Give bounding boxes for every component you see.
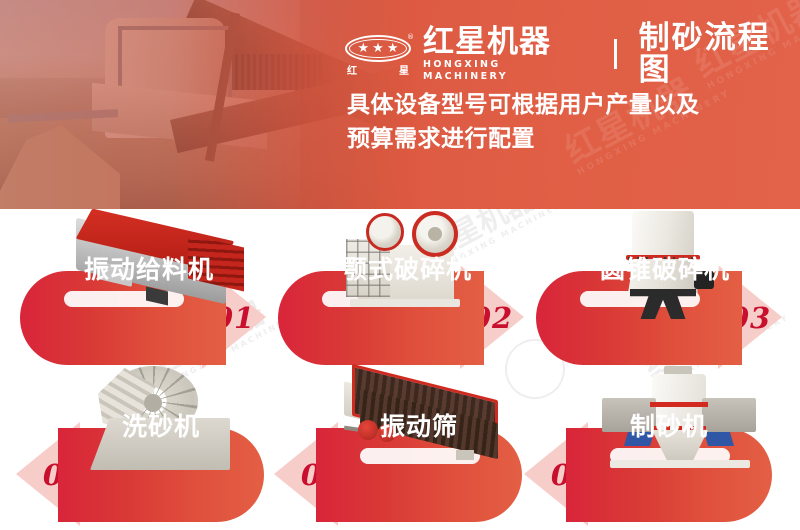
cone-crusher-drive-motor (694, 271, 714, 289)
screen-pulley-1 (358, 420, 378, 440)
flow-diagram-area: 红星机器 HONGXING MACHINERY 红星机器 HONGXING MA… (0, 209, 800, 530)
logo-char-right: 星 (399, 62, 409, 77)
header-subtitle-line1: 具体设备型号可根据用户产量以及 (347, 88, 747, 122)
header-subtitle: 具体设备型号可根据用户产量以及 预算需求进行配置 (347, 88, 747, 156)
star-icon-1: ★ (358, 42, 370, 55)
step-02-image-layer (278, 209, 538, 369)
flow-step-04[interactable]: 04 (540, 366, 800, 526)
vsi-right-motor (704, 432, 734, 446)
step-03-image-layer (536, 209, 796, 369)
cone-crusher-stand (630, 289, 696, 319)
page-title: 制砂流程图 (639, 22, 800, 86)
logo-subtext: 红 星 (347, 62, 409, 77)
step-06-image-layer (32, 366, 292, 526)
flow-row-bottom: 06 (0, 366, 800, 526)
brand-name-en: HONGXING MACHINERY (423, 59, 588, 83)
vibrating-feeder-image (68, 215, 248, 311)
sand-making-flowchart-page: 红星机器 HONGXING MACHINERY 红星机器 HONGXING MA… (0, 0, 800, 530)
vsi-discharge-hopper (652, 430, 708, 462)
jaw-crusher-hub (428, 227, 442, 241)
washer-tank (90, 418, 230, 470)
flow-step-02[interactable]: 02 (278, 209, 538, 369)
flow-step-03[interactable]: 03 (536, 209, 796, 369)
star-icon-3: ★ (387, 42, 399, 55)
sand-making-machine-image (596, 370, 766, 474)
flow-step-05[interactable]: 05 (290, 366, 550, 526)
vsi-red-band (650, 402, 708, 407)
header-content: ★ ★ ★ ® 红 星 红星机器 HONGXING MACHINERY 制砂流程… (345, 0, 800, 209)
vsi-right-module (702, 398, 756, 432)
logo-inner-ellipse: ★ ★ ★ (349, 39, 407, 58)
registered-trademark-icon: ® (407, 33, 414, 41)
header-divider (614, 39, 617, 69)
hongxing-logo-icon: ★ ★ ★ ® 红 星 (345, 33, 419, 75)
brand-row: ★ ★ ★ ® 红 星 红星机器 HONGXING MACHINERY 制砂流程… (345, 22, 800, 86)
screen-support-foot (456, 450, 474, 460)
vibrating-screen-image (338, 376, 514, 468)
cone-crusher-main-frame (628, 259, 698, 293)
jaw-crusher-image (340, 211, 490, 317)
page-header: 红星机器 HONGXING MACHINERY 红星机器 HONGXING MA… (0, 0, 800, 209)
vsi-base (610, 460, 750, 468)
washer-wheel-hub (144, 394, 162, 412)
cone-crusher-image (610, 209, 728, 327)
step-04-image-layer (540, 366, 800, 526)
cone-crusher-upper-shell (632, 211, 694, 257)
logo-char-left: 红 (347, 62, 357, 77)
flow-row-top: 01 (0, 209, 800, 369)
header-subtitle-line2: 预算需求进行配置 (347, 122, 747, 156)
jaw-crusher-flywheel-rear (366, 213, 404, 251)
brand-name-cn: 红星机器 (423, 26, 588, 58)
star-icon-2: ★ (372, 42, 384, 55)
step-05-image-layer (290, 366, 550, 526)
jaw-crusher-base (350, 299, 460, 307)
brand-text-block: 红星机器 HONGXING MACHINERY (423, 26, 588, 83)
vsi-left-motor (624, 432, 654, 446)
vsi-left-module (602, 398, 656, 432)
flow-step-01[interactable]: 01 (20, 209, 280, 369)
flow-step-06[interactable]: 06 (32, 366, 292, 526)
step-01-image-layer (20, 209, 280, 369)
sand-washing-machine-image (86, 366, 240, 478)
screen-pulley-2 (378, 424, 396, 442)
